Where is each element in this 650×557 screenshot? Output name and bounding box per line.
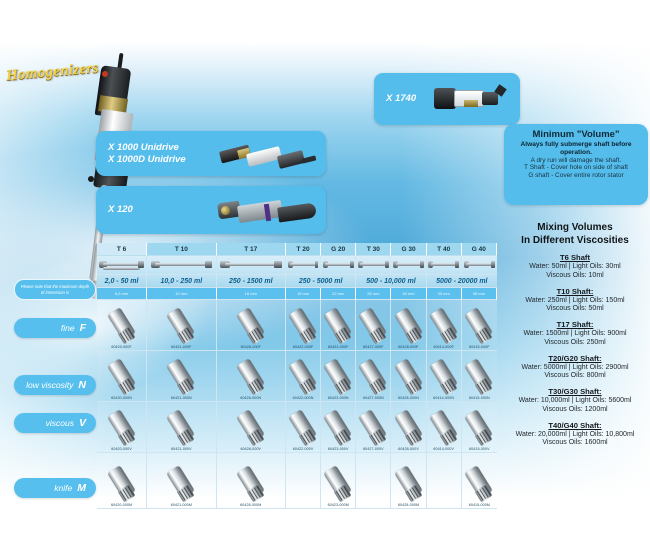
table-product-cell[interactable]: 60420-000F xyxy=(97,300,147,351)
mixing-volume-group: T10 Shaft:Water: 250ml | Light Oils: 150… xyxy=(500,287,650,315)
callout-x1740-label: X 1740 xyxy=(374,93,416,105)
table-shaft-photo-row xyxy=(97,256,497,275)
table-shaft-photo-cell xyxy=(147,256,216,275)
rotor-stator-shaft-icon xyxy=(234,467,268,503)
mixing-volume-line-water-lightoils: Water: 250ml | Light Oils: 150ml xyxy=(500,297,650,306)
mixing-volumes-panel: Mixing Volumes In Different Viscosities … xyxy=(500,222,650,507)
mixing-volume-group-title: T40/G40 Shaft: xyxy=(500,421,650,430)
product-code: 60420-000V xyxy=(111,447,132,451)
rotor-stator-shaft-icon xyxy=(462,360,496,396)
table-product-cell[interactable]: 60421-000F xyxy=(147,300,216,351)
table-shaft-photo-cell xyxy=(217,256,286,275)
table-product-cell[interactable]: 60427-000N xyxy=(356,351,391,402)
table-product-cell[interactable]: 60422-000V xyxy=(286,402,321,453)
row-label-fine[interactable]: fine F xyxy=(14,318,96,338)
table-product-cell[interactable]: 60426-000F xyxy=(217,300,286,351)
product-code: 60415-000F xyxy=(469,345,489,349)
product-code: 60415-000V xyxy=(469,447,490,451)
table-volume-range-cell: 500 - 10,000 ml xyxy=(356,275,426,288)
mixing-volume-group-title: T30/G30 Shaft: xyxy=(500,387,650,396)
product-code: 60422-000N xyxy=(293,396,314,400)
rotor-stator-shaft-icon xyxy=(286,309,320,345)
rotor-stator-shaft-icon xyxy=(462,309,496,345)
callout-x120-label: X 120 xyxy=(96,204,133,216)
table-product-cell[interactable]: 60428-000N xyxy=(391,351,426,402)
table-product-cell[interactable]: 60414-000V xyxy=(427,402,462,453)
product-code: 60428-000N xyxy=(398,396,419,400)
table-product-cell[interactable]: 60415-000M xyxy=(462,453,497,509)
mixing-volume-line-water-lightoils: Water: 50ml | Light Oils: 30ml xyxy=(500,263,650,272)
rotor-stator-shaft-icon xyxy=(321,309,355,345)
mixing-volume-line-viscous: Viscous Oils: 10ml xyxy=(500,272,650,281)
mixing-volume-line-water-lightoils: Water: 1500ml | Light Oils: 900ml xyxy=(500,330,650,339)
product-code: 60428-000V xyxy=(398,447,419,451)
product-code: 60423-000M xyxy=(328,503,349,507)
rotor-stator-shaft-icon xyxy=(286,411,320,447)
product-code: 60421-000F xyxy=(171,345,191,349)
minimum-volume-line-2: T Shaft - Cover hole on side of shaft xyxy=(509,164,643,172)
product-code: 60422-000V xyxy=(293,447,314,451)
product-code: 60427-000V xyxy=(363,447,384,451)
product-code: 60421-000V xyxy=(171,447,192,451)
rotor-stator-shaft-icon xyxy=(321,360,355,396)
product-code: 60428-000M xyxy=(398,503,419,507)
rotor-stator-shaft-icon xyxy=(321,467,355,503)
table-header-cell-t20: T 20 xyxy=(286,243,321,256)
mixing-volumes-heading-line1: Mixing Volumes xyxy=(537,222,612,233)
product-code: 60420-000F xyxy=(111,345,131,349)
table-diameter-cell: 19 mm xyxy=(286,288,321,300)
homogenizer-drive-x120-icon xyxy=(218,197,318,223)
table-header-cell-t10: T 10 xyxy=(147,243,216,256)
row-label-fine-text: fine xyxy=(61,323,75,333)
table-product-cell[interactable]: 60421-000N xyxy=(147,351,216,402)
rotor-stator-shaft-icon xyxy=(105,411,139,447)
rotor-stator-shaft-icon xyxy=(427,309,461,345)
rotor-stator-shaft-icon xyxy=(286,360,320,396)
rotor-stator-shaft-icon xyxy=(427,360,461,396)
table-product-cell[interactable]: 60420-000M xyxy=(97,453,147,509)
product-code: 60414-000F xyxy=(433,345,453,349)
product-code: 60421-000M xyxy=(171,503,192,507)
mixing-volume-group: T20/G20 Shaft:Water: 5000ml | Light Oils… xyxy=(500,354,650,382)
table-volume-range-cell: 5000 - 20000 ml xyxy=(427,275,497,288)
table-diameter-cell: 10 mm xyxy=(147,288,216,300)
table-product-cell[interactable]: 60423-000F xyxy=(321,300,356,351)
minimum-volume-subtitle: Always fully submerge shaft before opera… xyxy=(509,141,643,157)
product-code: 60414-000N xyxy=(433,396,454,400)
row-label-low-code: N xyxy=(78,379,86,391)
product-code: 60426-000N xyxy=(240,396,261,400)
table-row: 60420-000N60421-000N60426-000N60422-000N… xyxy=(97,351,497,402)
table-row: 60420-000V60421-000V60426-000V60422-000V… xyxy=(97,402,497,453)
product-code: 60421-000N xyxy=(171,396,192,400)
rotor-stator-shaft-icon xyxy=(105,360,139,396)
table-product-cell[interactable]: 60421-000V xyxy=(147,402,216,453)
table-product-cell[interactable] xyxy=(286,453,321,509)
table-product-cell[interactable] xyxy=(356,453,391,509)
product-code: 60426-000M xyxy=(240,503,261,507)
rotor-stator-shaft-icon xyxy=(105,467,139,503)
shaft-selection-table: T 6T 10T 17T 20G 20T 30G 30T 40G 40 2,0 … xyxy=(97,243,497,504)
minimum-volume-line-1: A dry run will damage the shaft. xyxy=(509,157,643,165)
row-label-fine-code: F xyxy=(80,322,86,334)
minimum-volume-info-box: Minimum "Volume" Always fully submerge s… xyxy=(504,124,648,205)
product-code: 60420-000N xyxy=(111,396,132,400)
shaft-rod-icon xyxy=(428,259,459,271)
table-row: 60420-000M60421-000M60426-000M60423-000M… xyxy=(97,453,497,509)
homogenizer-drive-x1740-icon xyxy=(434,84,512,114)
table-header-cell-t30: T 30 xyxy=(356,243,391,256)
product-code: 60423-000V xyxy=(328,447,349,451)
rotor-stator-shaft-icon xyxy=(234,360,268,396)
mixing-volumes-group-list: T6 ShaftWater: 50ml | Light Oils: 30mlVi… xyxy=(500,253,650,448)
table-product-cell[interactable]: 60423-000N xyxy=(321,351,356,402)
table-diameter-cell: 6,6 mm xyxy=(97,288,147,300)
shaft-rod-icon xyxy=(99,259,143,271)
row-label-viscous-text: viscous xyxy=(46,418,74,428)
table-product-cell[interactable] xyxy=(427,453,462,509)
table-diameter-cell: 30 mm xyxy=(391,288,426,300)
row-label-viscous-code: V xyxy=(79,417,86,429)
mixing-volume-group-title: T20/G20 Shaft: xyxy=(500,354,650,363)
table-shaft-photo-cell xyxy=(321,256,356,275)
callout-x1000-unidrive[interactable]: X 1000 Unidrive X 1000D Unidrive xyxy=(96,131,326,176)
row-label-viscous[interactable]: viscous V xyxy=(14,413,96,433)
table-diameter-row: 6,6 mm10 mm18 mm19 mm22 mm25 mm30 mm33 m… xyxy=(97,288,497,300)
product-code: 60423-000N xyxy=(328,396,349,400)
table-volume-range-cell: 10,0 - 250 ml xyxy=(147,275,216,288)
rotor-stator-shaft-icon xyxy=(164,360,198,396)
mixing-volume-line-water-lightoils: Water: 5000ml | Light Oils: 2900ml xyxy=(500,364,650,373)
row-label-low-text: low viscosity xyxy=(26,380,73,390)
mixing-volumes-heading: Mixing Volumes In Different Viscosities xyxy=(500,222,650,247)
callout-x1740[interactable]: X 1740 xyxy=(374,73,520,125)
background-top-white xyxy=(0,0,650,46)
mixing-volume-line-viscous: Viscous Oils: 1600ml xyxy=(500,439,650,448)
shaft-rod-icon xyxy=(220,259,282,271)
rotor-stator-shaft-icon xyxy=(392,467,426,503)
rotor-stator-shaft-icon xyxy=(164,309,198,345)
rotor-stator-shaft-icon xyxy=(234,411,268,447)
shaft-rod-icon xyxy=(323,259,354,271)
table-product-cell[interactable]: 60421-000M xyxy=(147,453,216,509)
mixing-volumes-heading-line2: In Different Viscosities xyxy=(521,235,629,246)
table-shaft-photo-cell xyxy=(462,256,497,275)
table-volume-range-row: 2,0 - 50 ml10,0 - 250 ml250 - 1500 ml250… xyxy=(97,275,497,288)
table-header-cell-t17: T 17 xyxy=(217,243,286,256)
rotor-stator-shaft-icon xyxy=(356,411,390,447)
table-product-cell[interactable]: 60423-000M xyxy=(321,453,356,509)
callout-x120[interactable]: X 120 xyxy=(96,186,326,234)
table-row: 60420-000F60421-000F60426-000F60422-000F… xyxy=(97,300,497,351)
table-shaft-photo-cell xyxy=(427,256,462,275)
table-header-row: T 6T 10T 17T 20G 20T 30G 30T 40G 40 xyxy=(97,243,497,256)
row-label-knife[interactable]: knife M xyxy=(14,478,96,498)
pointer-dot-x1000 xyxy=(88,176,94,182)
product-code: 60427-000F xyxy=(363,345,383,349)
shaft-rod-icon xyxy=(288,259,319,271)
shaft-rod-icon xyxy=(358,259,389,271)
product-code: 60415-000N xyxy=(469,396,490,400)
table-product-cell[interactable]: 60427-000F xyxy=(356,300,391,351)
rotor-stator-shaft-icon xyxy=(392,411,426,447)
rotor-stator-shaft-icon xyxy=(427,411,461,447)
background-bottom-white xyxy=(0,512,650,557)
mixing-volume-group-title: T10 Shaft: xyxy=(500,287,650,296)
table-product-cell[interactable]: 60423-000V xyxy=(321,402,356,453)
table-header-cell-g40: G 40 xyxy=(462,243,497,256)
rotor-stator-shaft-icon xyxy=(321,411,355,447)
table-diameter-cell: 25 mm xyxy=(356,288,391,300)
table-product-cell[interactable]: 60428-000F xyxy=(391,300,426,351)
table-volume-range-cell: 250 - 5000 ml xyxy=(286,275,356,288)
table-product-cell[interactable]: 60422-000F xyxy=(286,300,321,351)
row-label-knife-text: knife xyxy=(54,483,72,493)
mixing-volume-group: T17 Shaft:Water: 1500ml | Light Oils: 90… xyxy=(500,320,650,348)
table-product-cell[interactable]: 60426-000M xyxy=(217,453,286,509)
rotor-stator-shaft-icon xyxy=(462,411,496,447)
poster-canvas: Homogenizers X 1000 Unidrive X 1000D Uni… xyxy=(0,0,650,557)
table-product-cell[interactable]: 60426-000V xyxy=(217,402,286,453)
table-shaft-photo-cell xyxy=(356,256,391,275)
table-shaft-photo-cell xyxy=(286,256,321,275)
mixing-volume-group: T6 ShaftWater: 50ml | Light Oils: 30mlVi… xyxy=(500,253,650,281)
table-diameter-cell: 22 mm xyxy=(321,288,356,300)
mixing-volume-group: T40/G40 Shaft:Water: 20,000ml | Light Oi… xyxy=(500,421,650,449)
callout-x1000-label: X 1000 Unidrive X 1000D Unidrive xyxy=(96,142,186,166)
mixing-volume-line-viscous: Viscous Oils: 50ml xyxy=(500,305,650,314)
product-code: 60427-000N xyxy=(363,396,384,400)
table-product-cell[interactable]: 60420-000V xyxy=(97,402,147,453)
table-shaft-photo-cell xyxy=(391,256,426,275)
rotor-stator-shaft-icon xyxy=(234,309,268,345)
table-product-cell[interactable]: 60422-000N xyxy=(286,351,321,402)
rotor-stator-shaft-icon xyxy=(356,360,390,396)
row-label-knife-code: M xyxy=(77,482,86,494)
mixing-volume-line-water-lightoils: Water: 20,000ml | Light Oils: 10,800ml xyxy=(500,431,650,440)
product-code: 60426-000F xyxy=(241,345,261,349)
mixing-volume-line-viscous: Viscous Oils: 800ml xyxy=(500,372,650,381)
rotor-stator-shaft-icon xyxy=(164,411,198,447)
rotor-stator-shaft-icon xyxy=(392,360,426,396)
product-code: 60423-000F xyxy=(328,345,348,349)
row-label-low-viscosity[interactable]: low viscosity N xyxy=(14,375,96,395)
product-code: 60414-000V xyxy=(433,447,454,451)
table-product-cell[interactable]: 60427-000V xyxy=(356,402,391,453)
table-product-cell[interactable]: 60414-000N xyxy=(427,351,462,402)
shaft-rod-icon xyxy=(393,259,424,271)
table-product-cell[interactable]: 60415-000N xyxy=(462,351,497,402)
table-diameter-cell: 38 mm xyxy=(462,288,497,300)
mixing-volume-group: T30/G30 Shaft:Water: 10,000ml | Light Oi… xyxy=(500,387,650,415)
table-product-cell[interactable]: 60414-000F xyxy=(427,300,462,351)
mixing-volume-group-title: T17 Shaft: xyxy=(500,320,650,329)
product-code: 60415-000M xyxy=(469,503,490,507)
mixing-volume-line-water-lightoils: Water: 10,000ml | Light Oils: 5600ml xyxy=(500,397,650,406)
rotor-stator-shaft-icon xyxy=(164,467,198,503)
immersion-depth-note: Please note that the maximum depth of im… xyxy=(14,279,96,300)
table-diameter-cell: 18 mm xyxy=(217,288,286,300)
shaft-rod-icon xyxy=(151,259,213,271)
minimum-volume-title: Minimum "Volume" xyxy=(509,129,643,140)
product-code: 60422-000F xyxy=(293,345,313,349)
table-product-rows: 60420-000F60421-000F60426-000F60422-000F… xyxy=(97,300,497,509)
rotor-stator-shaft-icon xyxy=(462,467,496,503)
table-header-cell-t40: T 40 xyxy=(427,243,462,256)
rotor-stator-shaft-icon xyxy=(392,309,426,345)
table-product-cell[interactable]: 60428-000V xyxy=(391,402,426,453)
table-product-cell[interactable]: 60428-000M xyxy=(391,453,426,509)
table-product-cell[interactable]: 60420-000N xyxy=(97,351,147,402)
table-header-cell-g20: G 20 xyxy=(321,243,356,256)
minimum-volume-line-3: G shaft - Cover entire rotor stator xyxy=(509,172,643,180)
product-code: 60420-000M xyxy=(111,503,132,507)
table-product-cell[interactable]: 60426-000N xyxy=(217,351,286,402)
product-code: 60428-000F xyxy=(398,345,418,349)
table-diameter-cell: 33 mm xyxy=(427,288,462,300)
table-volume-range-cell: 2,0 - 50 ml xyxy=(97,275,147,288)
table-product-cell[interactable]: 60415-000F xyxy=(462,300,497,351)
table-volume-range-cell: 250 - 1500 ml xyxy=(217,275,286,288)
rotor-stator-shaft-icon xyxy=(356,309,390,345)
rotor-stator-shaft-icon xyxy=(105,309,139,345)
shaft-rod-icon xyxy=(464,259,496,271)
table-product-cell[interactable]: 60415-000V xyxy=(462,402,497,453)
product-code: 60426-000V xyxy=(240,447,261,451)
homogenizer-drive-x1000-icon xyxy=(220,142,318,166)
mixing-volume-line-viscous: Viscous Oils: 1200ml xyxy=(500,406,650,415)
table-header-cell-g30: G 30 xyxy=(391,243,426,256)
table-shaft-photo-cell xyxy=(97,256,147,275)
mixing-volume-line-viscous: Viscous Oils: 250ml xyxy=(500,339,650,348)
mixing-volume-group-title: T6 Shaft xyxy=(500,253,650,262)
table-header-cell-t6: T 6 xyxy=(97,243,147,256)
